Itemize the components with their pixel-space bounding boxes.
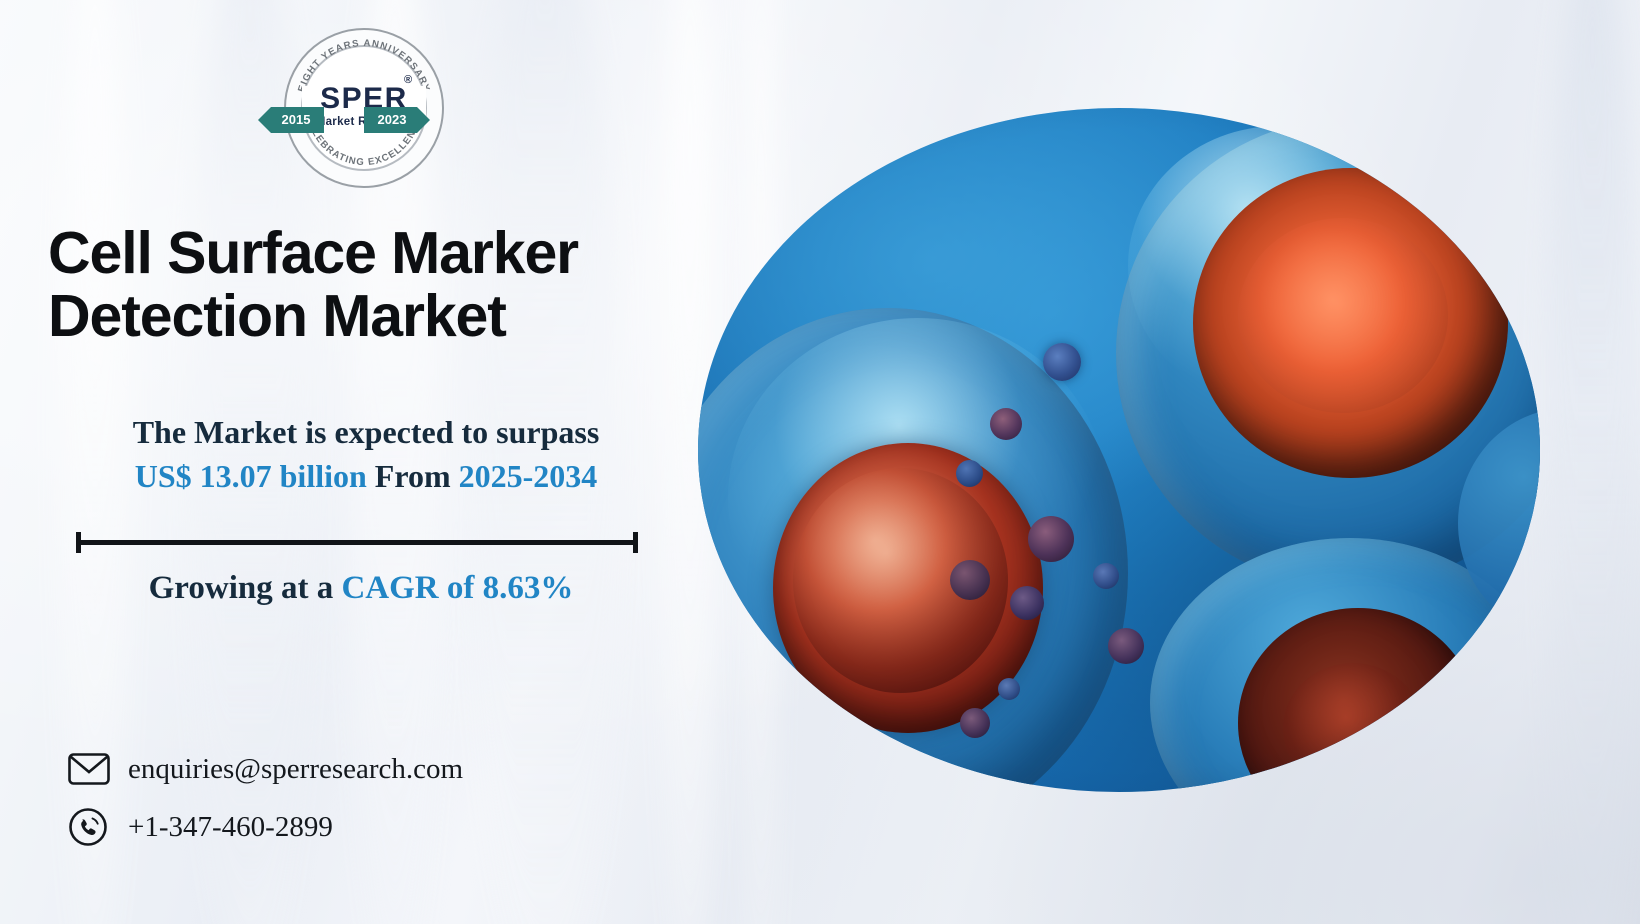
cell-bottom-right-nucleus-core [1283, 663, 1423, 792]
particle [1010, 586, 1044, 620]
email-address: enquiries@sperresearch.com [128, 753, 463, 786]
particle [998, 678, 1020, 700]
hero-image [698, 108, 1540, 792]
cagr-value: CAGR of 8.63% [341, 570, 573, 606]
phone-circle-icon [68, 808, 114, 846]
phone-number: +1-347-460-2899 [128, 811, 333, 844]
subhead-connector: From [375, 458, 451, 494]
cagr-prefix: Growing at a [149, 570, 334, 606]
page-title: Cell Surface Marker Detection Market [48, 222, 688, 348]
headline-line-1: Cell Surface Marker [48, 220, 578, 286]
cell-top-right-nucleus-core [1238, 218, 1448, 413]
particle [950, 560, 990, 600]
ribbon-left-year: 2015 [258, 107, 324, 133]
particle [1108, 628, 1144, 664]
poster-canvas: EIGHT YEARS ANNIVERSARY CELEBRATING EXCE… [0, 0, 1640, 924]
divider-bar [76, 540, 638, 545]
particle [1093, 563, 1119, 589]
market-value: US$ 13.07 billion [135, 458, 367, 494]
particle [1043, 343, 1081, 381]
market-summary: The Market is expected to surpass US$ 13… [76, 410, 656, 498]
sper-logo[interactable]: EIGHT YEARS ANNIVERSARY CELEBRATING EXCE… [258, 28, 430, 196]
envelope-icon [68, 750, 114, 788]
particle [956, 460, 983, 487]
section-divider [76, 532, 638, 554]
contact-block: enquiries@sperresearch.com +1-347-460-28… [68, 740, 463, 856]
registered-mark: ® [404, 74, 412, 86]
particle [990, 408, 1022, 440]
ribbon-right-year: 2023 [364, 107, 430, 133]
hero-image-content [698, 108, 1540, 792]
contact-row-phone[interactable]: +1-347-460-2899 [68, 798, 463, 856]
forecast-period: 2025-2034 [459, 458, 598, 494]
particle [960, 708, 990, 738]
cagr-statement: Growing at a CAGR of 8.63% [76, 570, 646, 607]
contact-row-email[interactable]: enquiries@sperresearch.com [68, 740, 463, 798]
subhead-line-1: The Market is expected to surpass [133, 414, 600, 450]
particle [1028, 516, 1074, 562]
headline-line-2: Detection Market [48, 283, 506, 349]
divider-cap-right [633, 532, 638, 553]
